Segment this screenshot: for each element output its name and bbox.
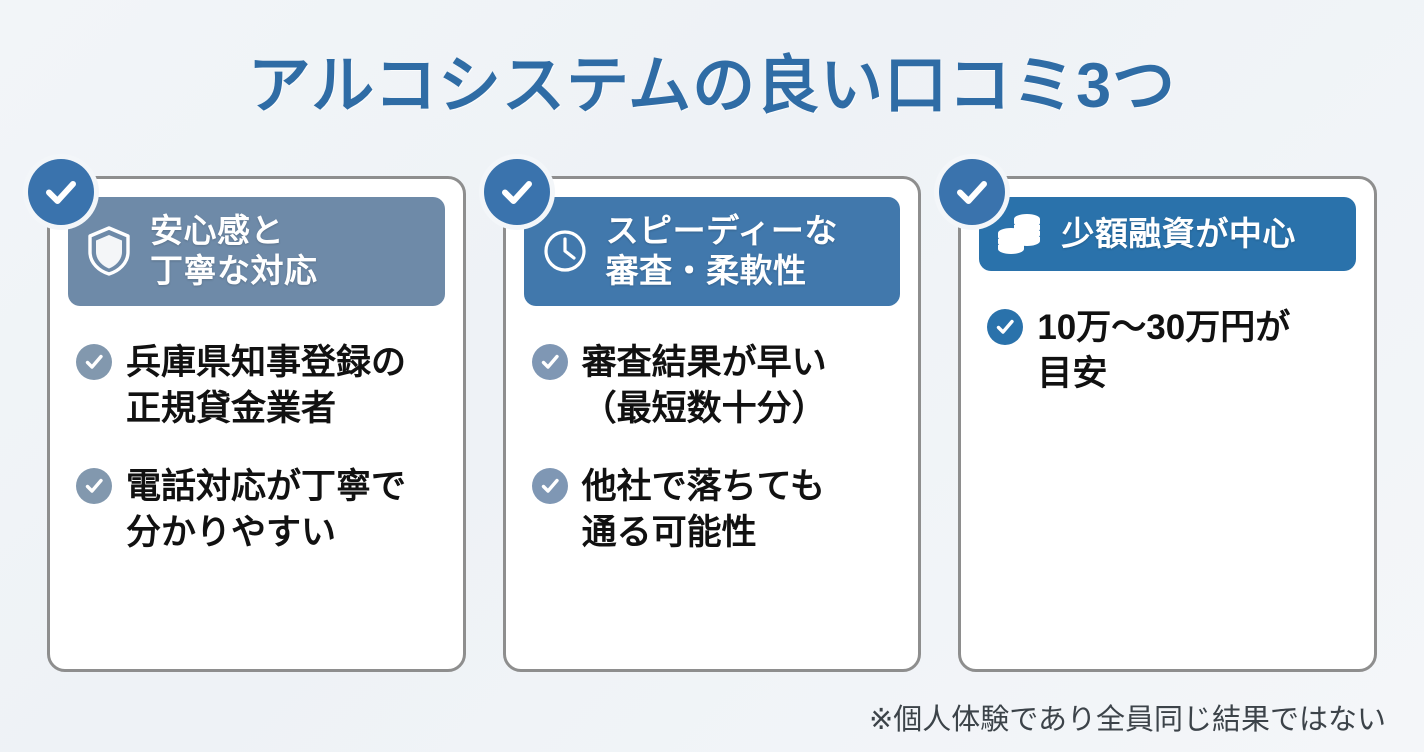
card-2-bullet-1-line2: （最短数十分） [582,386,827,432]
card-3-bullet-1-line2: 目安 [1037,351,1290,397]
card-1-bullet-2-line1: 電話対応が丁寧で [126,467,406,506]
card-1-header-line2: 丁寧な対応 [150,251,318,291]
list-item: 審査結果が早い （最短数十分） [532,340,897,432]
footnote: ※個人体験であり全員同じ結果ではない [869,696,1386,738]
card-2-header-line1: スピーディーな [606,212,838,249]
check-circle-icon [939,159,1005,225]
card-1-bullet-2-line2: 分かりやすい [126,510,406,556]
card-2-bullet-1-line1: 審査結果が早い [582,343,827,382]
check-icon [532,344,568,380]
card-2-bullet-list: 審査結果が早い （最短数十分） 他社で落ちても 通る可能性 [524,340,901,557]
list-item-text: 10万〜30万円が 目安 [1037,305,1290,397]
list-item: 兵庫県知事登録の 正規貸金業者 [76,340,441,432]
cards-row: 安心感と 丁寧な対応 兵庫県知事登録の 正規貸金業者 [47,176,1377,672]
card-3-bullet-1-line1: 10万〜30万円が [1037,308,1290,347]
card-3-bullet-list: 10万〜30万円が 目安 [979,305,1356,397]
card-1-header: 安心感と 丁寧な対応 [68,197,445,306]
card-3-header-line1: 少額融資が中心 [1061,215,1296,252]
card-3-header-text: 少額融資が中心 [1061,214,1296,254]
card-1-header-line1: 安心感と [150,212,284,249]
review-card-3: 少額融資が中心 10万〜30万円が 目安 [958,176,1377,672]
check-circle-icon [484,159,550,225]
card-1-bullet-list: 兵庫県知事登録の 正規貸金業者 電話対応が丁寧で 分かりやすい [68,340,445,557]
coins-icon [995,211,1045,257]
card-1-header-text: 安心感と 丁寧な対応 [150,211,318,292]
list-item: 他社で落ちても 通る可能性 [532,464,897,556]
page-title: アルコシステムの良い口コミ3つ [0,52,1424,121]
list-item-text: 他社で落ちても 通る可能性 [582,464,825,556]
list-item-text: 審査結果が早い （最短数十分） [582,340,827,432]
list-item: 電話対応が丁寧で 分かりやすい [76,464,441,556]
card-2-bullet-2-line1: 他社で落ちても [582,467,825,506]
list-item-text: 兵庫県知事登録の 正規貸金業者 [126,340,406,432]
list-item: 10万〜30万円が 目安 [987,305,1352,397]
check-circle-icon [28,159,94,225]
card-2-header-text: スピーディーな 審査・柔軟性 [606,211,838,292]
review-card-1: 安心感と 丁寧な対応 兵庫県知事登録の 正規貸金業者 [47,176,466,672]
card-1-bullet-1-line1: 兵庫県知事登録の [126,343,406,382]
review-card-2: スピーディーな 審査・柔軟性 審査結果が早い （最短数十分） [503,176,922,672]
card-1-bullet-1-line2: 正規貸金業者 [126,386,406,432]
card-2-header-line2: 審査・柔軟性 [606,251,838,291]
card-3-header: 少額融資が中心 [979,197,1356,271]
shield-icon [84,225,134,277]
check-icon [76,344,112,380]
check-icon [987,309,1023,345]
card-2-bullet-2-line2: 通る可能性 [582,510,825,556]
infographic-page: アルコシステムの良い口コミ3つ 安心感と 丁寧な対応 [0,0,1424,752]
clock-icon [540,227,590,275]
card-2-header: スピーディーな 審査・柔軟性 [524,197,901,306]
list-item-text: 電話対応が丁寧で 分かりやすい [126,464,406,556]
check-icon [76,468,112,504]
check-icon [532,468,568,504]
